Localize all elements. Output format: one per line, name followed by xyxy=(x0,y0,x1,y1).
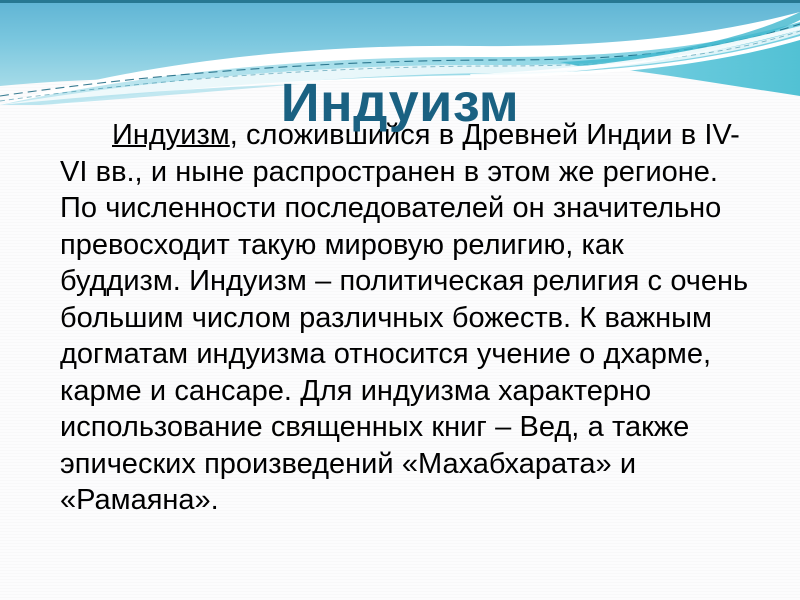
presentation-slide: Индуизм Индуизм, сложившийся в Древней И… xyxy=(0,0,800,600)
slide-body-paragraph: Индуизм, сложившийся в Древней Индии в I… xyxy=(60,117,750,519)
slide-title: Индуизм xyxy=(0,74,800,132)
top-edge-rule xyxy=(0,0,800,3)
wave-right-white-gap xyxy=(470,26,800,78)
body-paragraph-text: , сложившийся в Древней Индии в IV-VI вв… xyxy=(60,119,748,516)
wave-right-streak xyxy=(560,12,800,66)
